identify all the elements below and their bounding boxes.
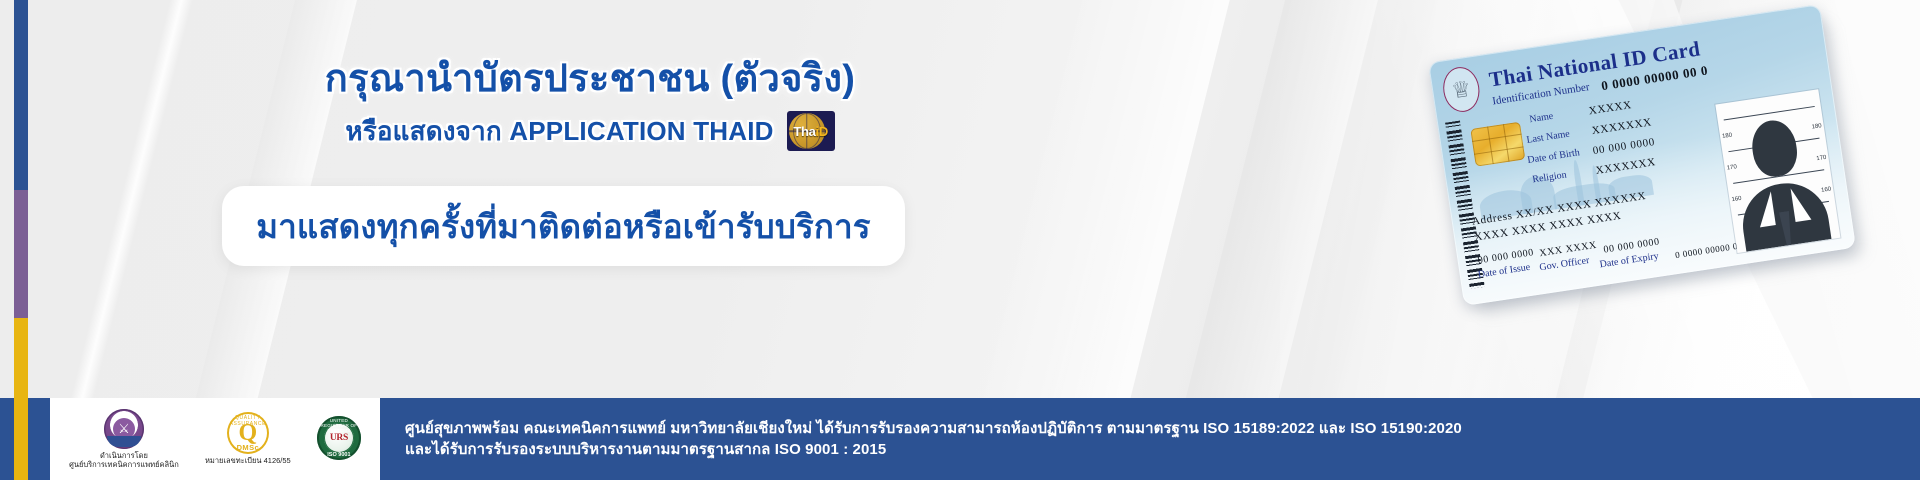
promo-banner: กรุณานำบัตรประชาชน (ตัวจริง) หรือแสดงจาก… xyxy=(0,0,1920,480)
logo-mark-letter: URS xyxy=(330,433,348,443)
accent-bar-yellow xyxy=(14,318,28,480)
logo-mark-top: UNITED REGISTRAR OF SYSTEMS xyxy=(317,418,361,433)
thaid-app-badge[interactable]: ThaiD xyxy=(787,111,835,151)
accent-bar-purple xyxy=(14,190,28,318)
cta-text: มาแสดงทุกครั้งที่มาติดต่อหรือเข้ารับบริก… xyxy=(256,200,870,253)
thaid-badge-label-tha: Tha xyxy=(793,124,815,139)
headline-block: กรุณานำบัตรประชาชน (ตัวจริง) หรือแสดงจาก… xyxy=(0,58,1180,152)
card-field-value-name: XXXXX xyxy=(1588,99,1633,117)
logo-item: UNITED REGISTRAR OF SYSTEMS URS ISO 9001 xyxy=(317,416,361,462)
portrait-head-icon xyxy=(1749,117,1801,179)
footer-accent-mid xyxy=(28,398,50,480)
smart-chip-icon xyxy=(1470,122,1525,167)
photo-tick-170-right: 170 xyxy=(1816,155,1827,162)
headline-secondary: หรือแสดงจาก APPLICATION THAID xyxy=(345,111,773,152)
photo-tick-180-right: 180 xyxy=(1811,123,1822,130)
headline-primary: กรุณานำบัตรประชาชน (ตัวจริง) xyxy=(0,58,1180,102)
logo-mark-bottom: DMSc xyxy=(227,443,269,452)
id-card-illustration: ♕ Thai National ID Card Identification N… xyxy=(1438,10,1898,310)
footer-line-2: และได้รับการรับรองระบบบริหารงานตามมาตรฐา… xyxy=(405,439,1920,460)
photo-tick-180-left: 180 xyxy=(1722,132,1733,139)
logo-caption: หมายเลขทะเบียน 4126/55 xyxy=(205,456,291,465)
card-title: Thai National ID Card xyxy=(1487,36,1702,92)
footer-bar: ⚔ ดำเนินการโดย ศูนย์บริการเทคนิคการแพทย์… xyxy=(0,398,1920,480)
footer-certification-text: ศูนย์สุขภาพพร้อม คณะเทคนิคการแพทย์ มหาวิ… xyxy=(380,398,1920,480)
photo-tick-170-left: 170 xyxy=(1726,164,1737,171)
cmu-amtec-logo-icon: ⚔ xyxy=(104,409,144,449)
footer-line-1: ศูนย์สุขภาพพร้อม คณะเทคนิคการแพทย์ มหาวิ… xyxy=(405,418,1920,439)
card-photo: 180 180 170 170 160 160 xyxy=(1715,89,1840,253)
thaid-badge-label-id: iD xyxy=(816,124,828,139)
card-field-label-last-name: Last Name xyxy=(1526,129,1571,146)
headline-secondary-row: หรือแสดงจาก APPLICATION THAID ThaiD xyxy=(0,111,1180,152)
garuda-emblem-icon: ♕ xyxy=(1440,65,1482,115)
accreditation-logo-strip: ⚔ ดำเนินการโดย ศูนย์บริการเทคนิคการแพทย์… xyxy=(50,398,380,480)
thaid-badge-label: ThaiD xyxy=(793,124,828,139)
urs-iso9001-logo-icon: UNITED REGISTRAR OF SYSTEMS URS ISO 9001 xyxy=(317,416,361,460)
logo-mark-bottom: ISO 9001 xyxy=(317,452,361,458)
logo-mark-top: QUALITY ASSURANCE xyxy=(227,415,269,427)
dmsc-quality-assurance-logo-icon: QUALITY ASSURANCE Q DMSc xyxy=(227,412,269,454)
logo-item: ⚔ ดำเนินการโดย ศูนย์บริการเทคนิคการแพทย์… xyxy=(69,409,179,470)
card-field-value-last-name: XXXXXXX xyxy=(1591,116,1653,137)
photo-tick-160-right: 160 xyxy=(1821,186,1832,193)
logo-item: QUALITY ASSURANCE Q DMSc หมายเลขทะเบียน … xyxy=(205,412,291,465)
photo-tick-160-left: 160 xyxy=(1731,196,1742,203)
card-field-label-name: Name xyxy=(1529,111,1554,125)
cta-pill[interactable]: มาแสดงทุกครั้งที่มาติดต่อหรือเข้ารับบริก… xyxy=(222,186,905,266)
logo-caption: ดำเนินการโดย ศูนย์บริการเทคนิคการแพทย์คล… xyxy=(69,451,179,470)
accent-bar-blue xyxy=(14,0,28,190)
